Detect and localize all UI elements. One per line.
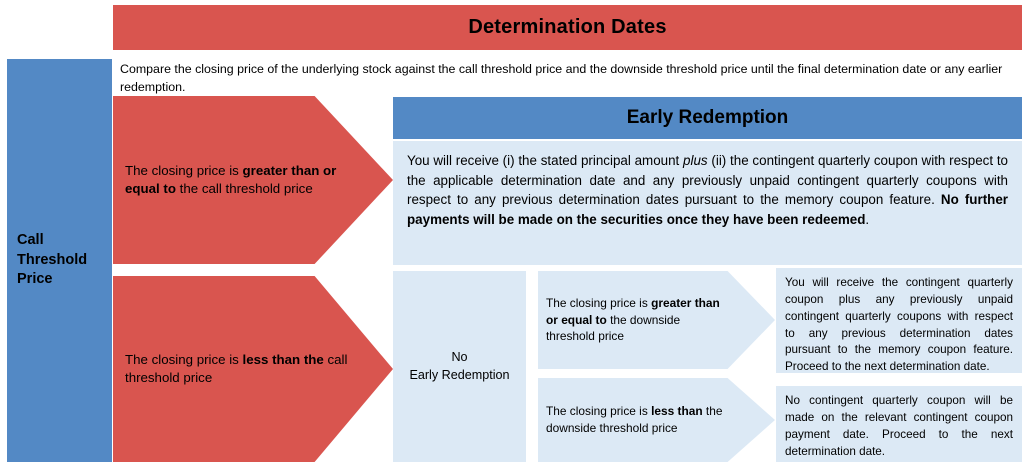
branch-ge-suffix: the call threshold price bbox=[176, 181, 313, 196]
diagram-canvas: Call Threshold Price Determination Dates… bbox=[0, 0, 1028, 462]
branch-arrow-downside-greater-equal: The closing price is greater than or equ… bbox=[538, 271, 775, 369]
branch-arrow-call-greater-equal-text: The closing price is greater than or equ… bbox=[113, 162, 354, 199]
early-redemption-part3: . bbox=[865, 212, 869, 227]
intro-paragraph: Compare the closing price of the underly… bbox=[120, 61, 1020, 97]
downside-lt-prefix: The closing price is bbox=[546, 404, 651, 418]
determination-dates-banner: Determination Dates bbox=[113, 5, 1022, 50]
branch-arrow-call-greater-equal: The closing price is greater than or equ… bbox=[113, 96, 393, 264]
early-redemption-title: Early Redemption bbox=[627, 107, 789, 129]
no-early-redemption-label: No Early Redemption bbox=[409, 349, 509, 384]
call-threshold-price-label: Call Threshold Price bbox=[7, 231, 87, 290]
call-threshold-price-bar: Call Threshold Price bbox=[7, 59, 112, 462]
call-threshold-line-2: Threshold bbox=[17, 252, 87, 268]
downside-lt-bold: less than bbox=[651, 404, 703, 418]
early-redemption-banner: Early Redemption bbox=[393, 97, 1022, 139]
branch-arrow-downside-less-than: The closing price is less than the downs… bbox=[538, 378, 775, 462]
branch-lt-prefix: The closing price is bbox=[125, 352, 243, 367]
downside-ge-prefix: The closing price is bbox=[546, 296, 651, 310]
branch-arrow-downside-greater-equal-text: The closing price is greater than or equ… bbox=[538, 295, 724, 345]
outcome-coupon-paid-box: You will receive the contingent quarterl… bbox=[776, 268, 1022, 373]
branch-arrow-call-less-than: The closing price is less than the call … bbox=[113, 276, 393, 462]
branch-arrow-downside-less-than-text: The closing price is less than the downs… bbox=[538, 403, 724, 436]
early-redemption-plus-italic: plus bbox=[683, 153, 708, 168]
branch-arrow-call-less-than-text: The closing price is less than the call … bbox=[113, 351, 364, 388]
early-redemption-body: You will receive (i) the stated principa… bbox=[393, 141, 1022, 265]
branch-ge-prefix: The closing price is bbox=[125, 163, 243, 178]
no-early-redemption-line-1: No bbox=[451, 350, 467, 364]
early-redemption-part1: You will receive (i) the stated principa… bbox=[407, 153, 683, 168]
no-early-redemption-box: No Early Redemption bbox=[393, 271, 526, 462]
no-early-redemption-line-2: Early Redemption bbox=[409, 368, 509, 382]
call-threshold-line-3: Price bbox=[17, 271, 52, 287]
branch-lt-bold: less than the bbox=[243, 352, 324, 367]
outcome-no-coupon-box: No contingent quarterly coupon will be m… bbox=[776, 386, 1022, 462]
call-threshold-line-1: Call bbox=[17, 232, 44, 248]
determination-dates-title: Determination Dates bbox=[468, 16, 666, 39]
